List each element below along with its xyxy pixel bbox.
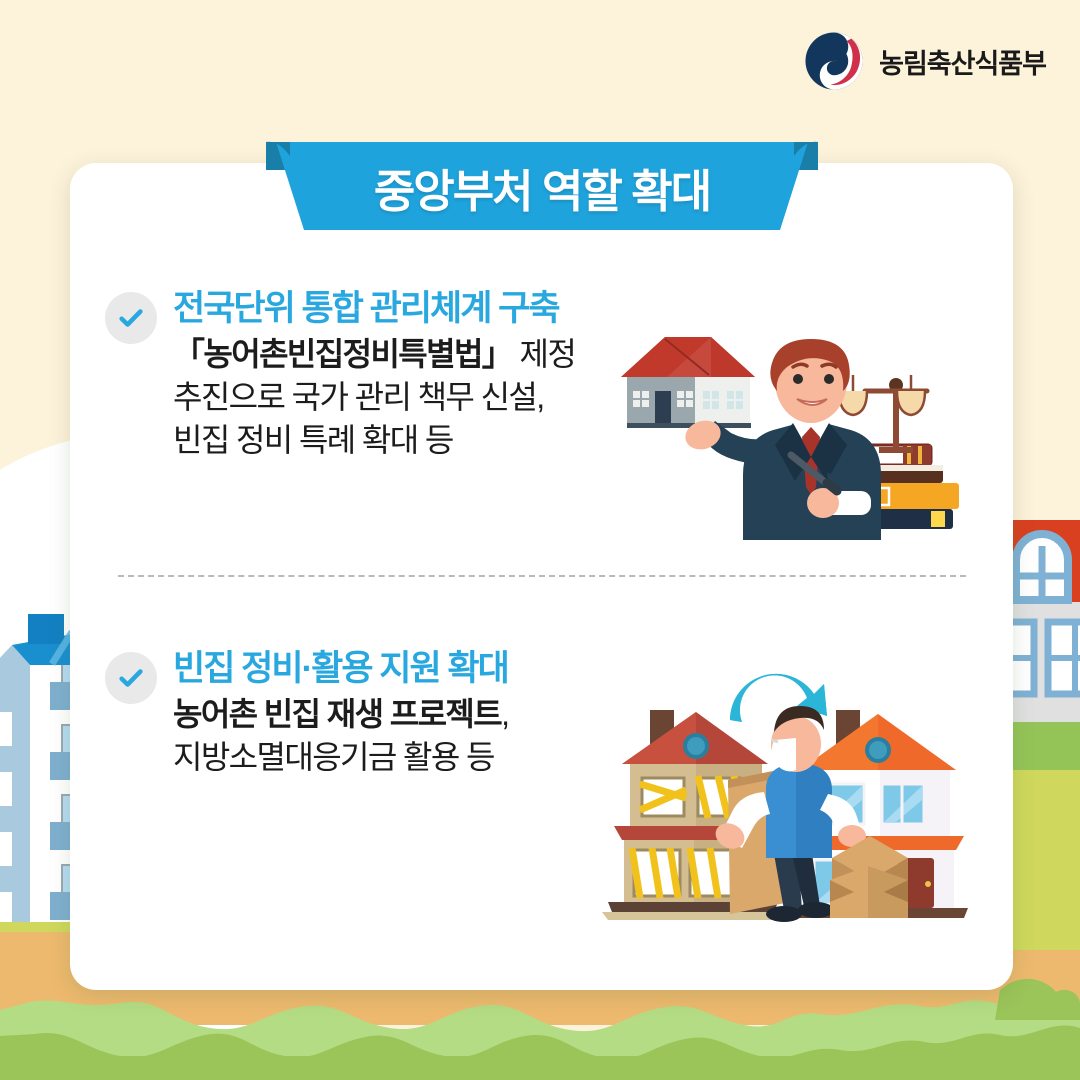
banner: 중앙부처 역할 확대 bbox=[262, 140, 822, 240]
body-normal-text: 제정 bbox=[512, 336, 575, 372]
businessman-holding-house-illustration bbox=[615, 305, 960, 540]
body-bold-text: 농어촌 빈집 재생 프로젝트 bbox=[173, 696, 501, 732]
check-circle-icon bbox=[105, 292, 157, 344]
ministry-name: 농림축산식품부 bbox=[879, 42, 1046, 81]
ministry-logo-bar: 농림축산식품부 bbox=[803, 30, 1046, 92]
korea-government-taegeuk-logo-icon bbox=[803, 30, 865, 92]
body-normal-text: , bbox=[501, 696, 508, 732]
section-divider bbox=[118, 575, 966, 577]
house-renovation-illustration bbox=[578, 640, 970, 925]
house-model-icon bbox=[621, 337, 755, 428]
body-bold-text: 「농어촌빈집정비특별법」 bbox=[173, 336, 512, 372]
check-circle-icon bbox=[105, 652, 157, 704]
banner-title: 중앙부처 역할 확대 bbox=[262, 140, 822, 240]
